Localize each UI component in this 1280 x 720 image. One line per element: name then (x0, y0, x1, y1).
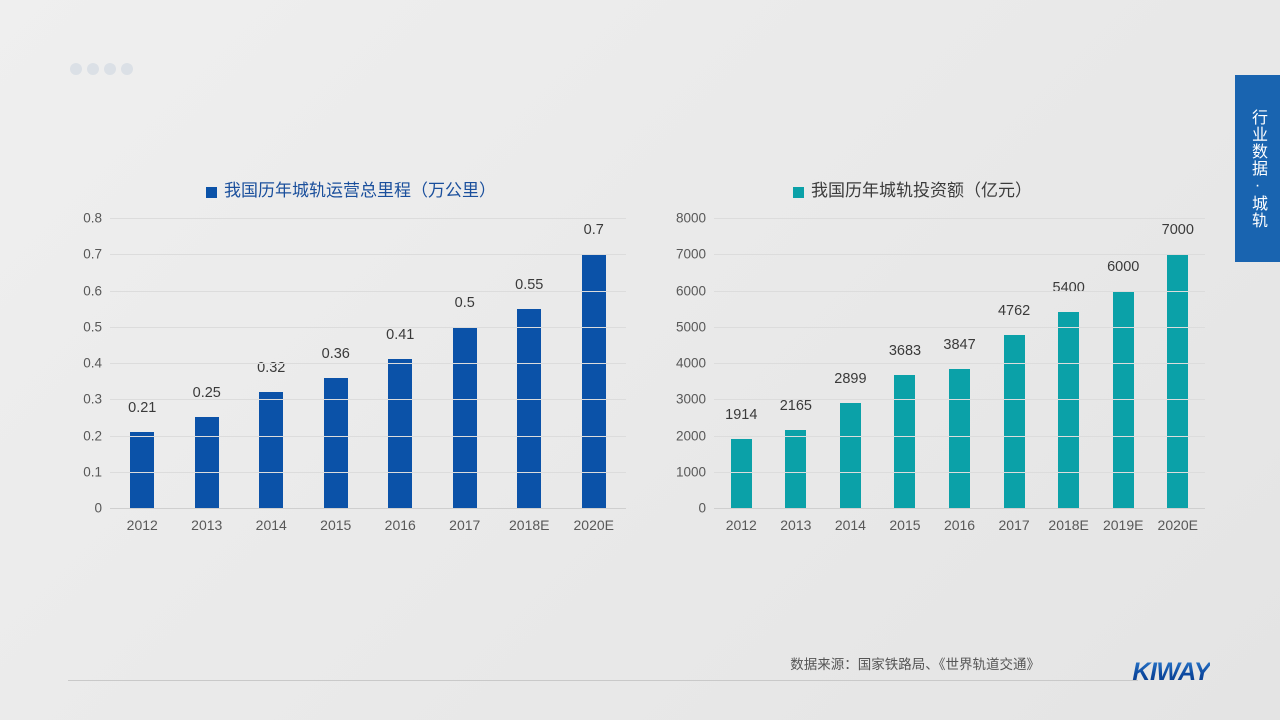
slide-root: 行业数据·城轨 我国历年城轨运营总里程（万公里） 0.80.70.60.50.4… (0, 0, 1280, 720)
bar-value-label: 4762 (998, 303, 1030, 319)
y-axis-tick-label: 4000 (676, 356, 706, 371)
y-axis-tick-label: 0.4 (83, 356, 102, 371)
chart-title-mileage: 我国历年城轨运营总里程（万公里） (66, 180, 626, 202)
gridline (110, 291, 626, 292)
y-axis-tick-label: 2000 (676, 428, 706, 443)
x-axis-tick-label: 2014 (823, 508, 878, 533)
bar (388, 359, 412, 508)
bar (785, 430, 806, 508)
y-axis-tick-label: 0.6 (83, 283, 102, 298)
kiway-logo: KIWAY (1132, 658, 1210, 687)
bar-value-label: 5400 (1053, 280, 1085, 296)
gridline (714, 399, 1205, 400)
gridline (110, 327, 626, 328)
y-axis-tick-label: 0.8 (83, 211, 102, 226)
gridline (714, 472, 1205, 473)
gridline (110, 363, 626, 364)
gridline (110, 472, 626, 473)
bar (324, 378, 348, 509)
bar-value-label: 0.5 (455, 295, 475, 311)
x-axis-tick-label: 2019E (1096, 508, 1151, 533)
y-axis-tick-label: 0.7 (83, 247, 102, 262)
chart-title-investment: 我国历年城轨投资额（亿元） (660, 180, 1205, 202)
chart-panel-mileage: 我国历年城轨运营总里程（万公里） 0.80.70.60.50.40.30.20.… (66, 180, 626, 508)
y-axis-tick-label: 7000 (676, 247, 706, 262)
gridline (110, 254, 626, 255)
grid-area-investment: 191421652899368338474762540060007000 (714, 218, 1205, 508)
x-axis-tick-label: 2012 (110, 508, 175, 533)
x-axis-tick-label: 2015 (878, 508, 933, 533)
y-axis-tick-label: 0.3 (83, 392, 102, 407)
gridline (714, 436, 1205, 437)
chart-title-mileage-text: 我国历年城轨运营总里程（万公里） (224, 180, 496, 202)
y-axis-tick-label: 5000 (676, 319, 706, 334)
bar-value-label: 3847 (943, 337, 975, 353)
gridline (714, 363, 1205, 364)
x-axis-tick-label: 2017 (433, 508, 498, 533)
y-axis-tick-label: 0.1 (83, 464, 102, 479)
gridline (110, 399, 626, 400)
footer-divider (68, 680, 1138, 681)
x-axis-tick-label: 2018E (497, 508, 562, 533)
grid-area-mileage: 0.210.250.320.360.410.50.550.7 (110, 218, 626, 508)
bar-value-label: 7000 (1162, 222, 1194, 238)
legend-swatch-icon (206, 187, 217, 198)
y-axis-tick-label: 6000 (676, 283, 706, 298)
x-axis-investment: 2012201320142015201620172018E2019E2020E (714, 508, 1205, 533)
x-axis-mileage: 2012201320142015201620172018E2020E (110, 508, 626, 533)
bar (517, 309, 541, 508)
bar-value-label: 0.41 (386, 327, 414, 343)
data-source-note: 数据来源：国家铁路局、《世界轨道交通》 (790, 653, 1040, 673)
x-axis-tick-label: 2020E (1151, 508, 1206, 533)
gridline (714, 327, 1205, 328)
bar (130, 432, 154, 508)
legend-swatch-icon (793, 187, 804, 198)
chart-panel-investment: 我国历年城轨投资额（亿元） 80007000600050004000300020… (660, 180, 1205, 508)
bar-value-label: 0.36 (322, 346, 350, 362)
y-axis-tick-label: 8000 (676, 211, 706, 226)
gridline (714, 254, 1205, 255)
x-axis-tick-label: 2020E (562, 508, 627, 533)
x-axis-tick-label: 2016 (932, 508, 987, 533)
y-axis-tick-label: 0 (94, 501, 102, 516)
gridline (110, 218, 626, 219)
y-axis-tick-label: 3000 (676, 392, 706, 407)
x-axis-tick-label: 2017 (987, 508, 1042, 533)
y-axis-tick-label: 0.5 (83, 319, 102, 334)
bar-value-label: 6000 (1107, 259, 1139, 275)
gridline (714, 218, 1205, 219)
x-axis-tick-label: 2014 (239, 508, 304, 533)
bar (731, 439, 752, 508)
gridline (110, 436, 626, 437)
plot-area-mileage: 0.80.70.60.50.40.30.20.10 0.210.250.320.… (66, 218, 626, 508)
bar (195, 417, 219, 508)
x-axis-tick-label: 2013 (769, 508, 824, 533)
bar (1004, 335, 1025, 508)
bar (1058, 312, 1079, 508)
gridline (714, 291, 1205, 292)
bar-value-label: 2899 (834, 371, 866, 387)
bar-value-label: 0.7 (584, 222, 604, 238)
bar (894, 375, 915, 509)
bar (840, 403, 861, 508)
y-axis-tick-label: 1000 (676, 464, 706, 479)
plot-area-investment: 800070006000500040003000200010000 191421… (660, 218, 1205, 508)
bar (1167, 254, 1188, 508)
x-axis-tick-label: 2012 (714, 508, 769, 533)
bar-value-label: 0.21 (128, 400, 156, 416)
bar (582, 254, 606, 508)
x-axis-tick-label: 2016 (368, 508, 433, 533)
y-axis-investment: 800070006000500040003000200010000 (660, 218, 714, 508)
bar-value-label: 1914 (725, 407, 757, 423)
bar-value-label: 3683 (889, 343, 921, 359)
y-axis-tick-label: 0.2 (83, 428, 102, 443)
y-axis-tick-label: 0 (698, 501, 706, 516)
x-axis-tick-label: 2018E (1041, 508, 1096, 533)
bar (259, 392, 283, 508)
x-axis-tick-label: 2013 (175, 508, 240, 533)
charts-container: 我国历年城轨运营总里程（万公里） 0.80.70.60.50.40.30.20.… (0, 0, 1280, 600)
x-axis-tick-label: 2015 (304, 508, 369, 533)
chart-title-investment-text: 我国历年城轨投资额（亿元） (811, 180, 1032, 202)
y-axis-mileage: 0.80.70.60.50.40.30.20.10 (66, 218, 110, 508)
bar (949, 369, 970, 508)
bar (453, 327, 477, 508)
